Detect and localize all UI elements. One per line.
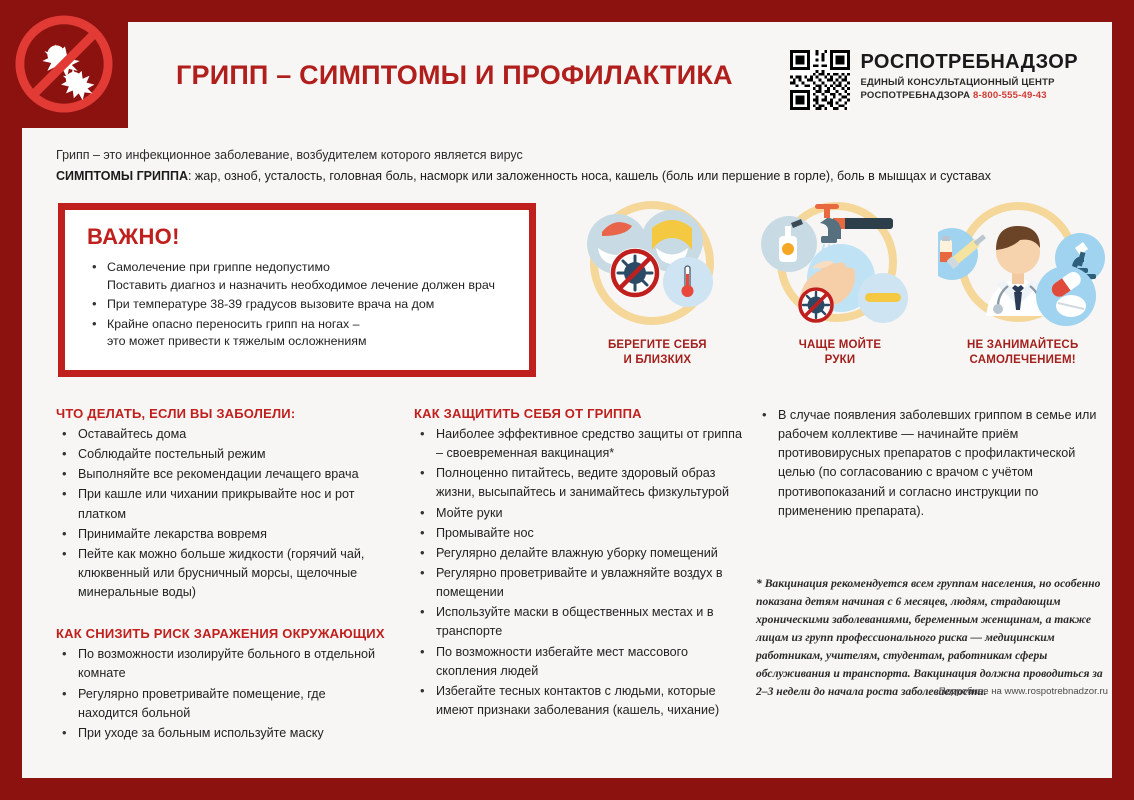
antiviral-advice-list: В случае появления заболевших гриппом в …: [756, 406, 1108, 521]
list-item: Промывайте нос: [414, 524, 744, 543]
section-heading-how-to-protect: КАК ЗАЩИТИТЬ СЕБЯ ОТ ГРИППА: [414, 406, 744, 421]
important-item-cont: это может привести к тяжелым осложнениям: [107, 333, 511, 351]
list-item: Самолечение при гриппе недопустимо Поста…: [87, 259, 511, 294]
list-item: Принимайте лекарства вовремя: [56, 525, 386, 544]
intro-line-1: Грипп – это инфекционное заболевание, во…: [56, 146, 1100, 164]
list-item: При уходе за больным используйте маску: [56, 724, 386, 743]
symptoms-text: : жар, озноб, усталость, головная боль, …: [188, 169, 991, 183]
illustration-caption: НЕ ЗАНИМАЙТЕСЬ САМОЛЕЧЕНИЕМ!: [967, 338, 1078, 367]
section-heading-reduce-risk: КАК СНИЗИТЬ РИСК ЗАРАЖЕНИЯ ОКРУЖАЮЩИХ: [56, 626, 386, 641]
column-middle: КАК ЗАЩИТИТЬ СЕБЯ ОТ ГРИППА Наиболее эфф…: [414, 406, 744, 721]
list-item: При кашле или чихании прикрывайте нос и …: [56, 485, 386, 523]
list-item: Регулярно проветривайте и увлажняйте воз…: [414, 564, 744, 602]
poster: ГРИПП – СИМПТОМЫ И ПРОФИЛАКТИКА: [0, 0, 1134, 800]
symptoms-label: СИМПТОМЫ ГРИППА: [56, 169, 188, 183]
list-item: По возможности изолируйте больного в отд…: [56, 645, 386, 683]
list-item: Крайне опасно переносить грипп на ногах …: [87, 316, 511, 351]
brand-sub-line2: РОСПОТРЕБНАДЗОРА 8-800-555-49-43: [860, 90, 1078, 103]
important-item-main: Крайне опасно переносить грипп на ногах …: [107, 317, 360, 331]
list-item: Избегайте тесных контактов с людьми, кот…: [414, 682, 744, 720]
list-item: Соблюдайте постельный режим: [56, 445, 386, 464]
caption-line-1: ЧАЩЕ МОЙТЕ: [799, 338, 881, 353]
list-item: Выполняйте все рекомендации лечащего вра…: [56, 465, 386, 484]
list-item: Регулярно делайте влажную уборку помещен…: [414, 544, 744, 563]
no-virus-icon: [15, 15, 113, 113]
brand-name: РОСПОТРЕБНАДЗОР: [860, 52, 1078, 73]
section-heading-what-to-do: ЧТО ДЕЛАТЬ, ЕСЛИ ВЫ ЗАБОЛЕЛИ:: [56, 406, 386, 421]
vaccination-footnote: * Вакцинация рекомендуется всем группам …: [756, 575, 1108, 701]
caption-line-1: НЕ ЗАНИМАЙТЕСЬ: [967, 338, 1078, 353]
qr-code-icon: [790, 50, 850, 110]
list-item: Наиболее эффективное средство защиты от …: [414, 425, 744, 463]
illustration-no-self-medication: НЕ ЗАНИМАЙТЕСЬ САМОЛЕЧЕНИЕМ!: [931, 196, 1114, 381]
intro-line-2: СИМПТОМЫ ГРИППА: жар, озноб, усталость, …: [56, 167, 1100, 185]
caption-line-1: БЕРЕГИТЕ СЕБЯ: [608, 338, 707, 353]
caption-line-2: И БЛИЗКИХ: [608, 353, 707, 368]
caption-line-2: САМОЛЕЧЕНИЕМ!: [967, 353, 1078, 368]
people-masks-virus-thermometer-icon: [572, 196, 742, 336]
page-title: ГРИПП – СИМПТОМЫ И ПРОФИЛАКТИКА: [176, 60, 733, 91]
no-virus-logo: [0, 0, 128, 128]
washing-hands-faucet-soap-icon: [755, 196, 925, 336]
important-item-main: Самолечение при гриппе недопустимо: [107, 260, 330, 274]
list-item: Мойте руки: [414, 504, 744, 523]
illustration-caption: ЧАЩЕ МОЙТЕ РУКИ: [799, 338, 881, 367]
important-box: ВАЖНО! Самолечение при гриппе недопустим…: [58, 203, 536, 377]
hotline-phone: 8-800-555-49-43: [973, 90, 1047, 101]
list-item: Используйте маски в общественных местах …: [414, 603, 744, 641]
list-item: Пейте как можно больше жидкости (горячий…: [56, 545, 386, 602]
poster-header: ГРИПП – СИМПТОМЫ И ПРОФИЛАКТИКА: [128, 22, 1112, 128]
brand-sub-line1: ЕДИНЫЙ КОНСУЛЬТАЦИОННЫЙ ЦЕНТР: [860, 77, 1078, 90]
caption-line-2: РУКИ: [799, 353, 881, 368]
list-item: По возможности избегайте мест массового …: [414, 643, 744, 681]
how-to-protect-list: Наиболее эффективное средство защиты от …: [414, 425, 744, 720]
list-item: Полноценно питайтесь, ведите здоровый об…: [414, 464, 744, 502]
list-item: При температуре 38-39 градусов вызовите …: [87, 296, 511, 314]
list-item: В случае появления заболевших гриппом в …: [756, 406, 1108, 521]
content-columns: ЧТО ДЕЛАТЬ, ЕСЛИ ВЫ ЗАБОЛЕЛИ: Оставайтес…: [56, 406, 1104, 780]
brand-text: РОСПОТРЕБНАДЗОР ЕДИНЫЙ КОНСУЛЬТАЦИОННЫЙ …: [860, 50, 1078, 103]
column-left: ЧТО ДЕЛАТЬ, ЕСЛИ ВЫ ЗАБОЛЕЛИ: Оставайтес…: [56, 406, 386, 744]
list-item: Регулярно проветривайте помещение, где н…: [56, 685, 386, 723]
brand-subtitle: ЕДИНЫЙ КОНСУЛЬТАЦИОННЫЙ ЦЕНТР РОСПОТРЕБН…: [860, 77, 1078, 103]
illustration-wash-hands: ЧАЩЕ МОЙТЕ РУКИ: [749, 196, 932, 381]
intro-block: Грипп – это инфекционное заболевание, во…: [56, 146, 1100, 185]
illustration-protect-yourself: БЕРЕГИТЕ СЕБЯ И БЛИЗКИХ: [566, 196, 749, 381]
important-item-main: При температуре 38-39 градусов вызовите …: [107, 297, 434, 311]
important-list: Самолечение при гриппе недопустимо Поста…: [87, 259, 511, 351]
website-footer: Подробнее на www.rospotrebnadzor.ru: [939, 686, 1108, 697]
column-right: В случае появления заболевших гриппом в …: [756, 406, 1108, 701]
what-to-do-list: Оставайтесь дома Соблюдайте постельный р…: [56, 425, 386, 602]
brand-sub-line2-text: РОСПОТРЕБНАДЗОРА: [860, 90, 970, 101]
list-item: Оставайтесь дома: [56, 425, 386, 444]
reduce-risk-list: По возможности изолируйте больного в отд…: [56, 645, 386, 743]
important-title: ВАЖНО!: [87, 224, 511, 250]
illustration-row: БЕРЕГИТЕ СЕБЯ И БЛИЗКИХ: [566, 196, 1114, 381]
rospotrebnadzor-brand: РОСПОТРЕБНАДЗОР ЕДИНЫЙ КОНСУЛЬТАЦИОННЫЙ …: [790, 50, 1078, 110]
doctor-pills-syringe-microscope-icon: [938, 196, 1108, 336]
illustration-caption: БЕРЕГИТЕ СЕБЯ И БЛИЗКИХ: [608, 338, 707, 367]
important-item-cont: Поставить диагноз и назначить необходимо…: [107, 277, 511, 295]
